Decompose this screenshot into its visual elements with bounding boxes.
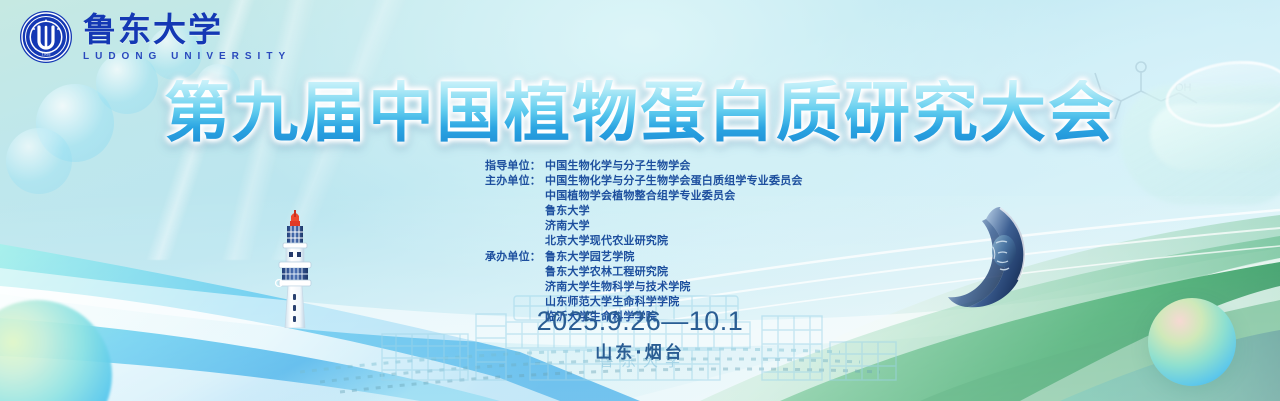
organizer-label: 承办单位：	[485, 249, 545, 264]
university-logo[interactable]: 1958 鲁东大学 LUDONG UNIVERSITY	[18, 9, 291, 65]
organizer-group: 鲁东大学	[485, 203, 803, 218]
organizer-group: 济南大学	[485, 218, 803, 233]
organizer-value: 济南大学	[545, 218, 803, 233]
organizer-value: 济南大学生物科学与技术学院	[545, 279, 803, 294]
organizer-group: 主办单位： 中国生物化学与分子生物学会蛋白质组学专业委员会	[485, 173, 803, 188]
organizer-label-spacer	[485, 233, 545, 248]
organizer-value: 鲁东大学农林工程研究院	[545, 264, 803, 279]
conference-banner: OH Me	[0, 0, 1280, 401]
organizer-value: 中国植物学会植物整合组学专业委员会	[545, 188, 803, 203]
organizer-label-spacer	[485, 218, 545, 233]
organizer-label-spacer	[485, 188, 545, 203]
organizer-label-spacer	[485, 203, 545, 218]
organizer-group: 济南大学生物科学与技术学院	[485, 279, 803, 294]
organizer-group: 鲁东大学农林工程研究院	[485, 264, 803, 279]
organizer-group: 中国植物学会植物整合组学专业委员会	[485, 188, 803, 203]
ludong-university-seal-icon: 1958	[18, 9, 74, 65]
logo-chinese-name: 鲁东大学	[83, 13, 291, 46]
organizer-list: 指导单位： 中国生物化学与分子生物学会 主办单位： 中国生物化学与分子生物学会蛋…	[485, 158, 803, 324]
conference-place: 山东·烟台	[0, 338, 1280, 363]
organizer-value: 北京大学现代农业研究院	[545, 233, 803, 248]
crescent-moon-icon	[938, 203, 1034, 311]
conference-date: 2025.9.26—10.1	[0, 307, 1280, 335]
organizer-group: 北京大学现代农业研究院	[485, 233, 803, 248]
organizer-label-spacer	[485, 279, 545, 294]
organizer-value: 鲁东大学	[545, 203, 803, 218]
organizer-group: 承办单位： 鲁东大学园艺学院	[485, 249, 803, 264]
conference-title: 第九届中国植物蛋白质研究大会	[0, 80, 1280, 146]
svg-text:1958: 1958	[42, 52, 52, 57]
logo-wordmark: 鲁东大学 LUDONG UNIVERSITY	[83, 13, 291, 62]
organizer-value: 鲁东大学园艺学院	[545, 249, 803, 264]
organizer-label-spacer	[485, 264, 545, 279]
logo-english-name: LUDONG UNIVERSITY	[83, 52, 291, 62]
organizer-value: 中国生物化学与分子生物学会蛋白质组学专业委员会	[545, 173, 803, 188]
organizer-label: 指导单位：	[485, 158, 545, 173]
organizer-label: 主办单位：	[485, 173, 545, 188]
organizer-group: 指导单位： 中国生物化学与分子生物学会	[485, 158, 803, 173]
organizer-value: 中国生物化学与分子生物学会	[545, 158, 803, 173]
